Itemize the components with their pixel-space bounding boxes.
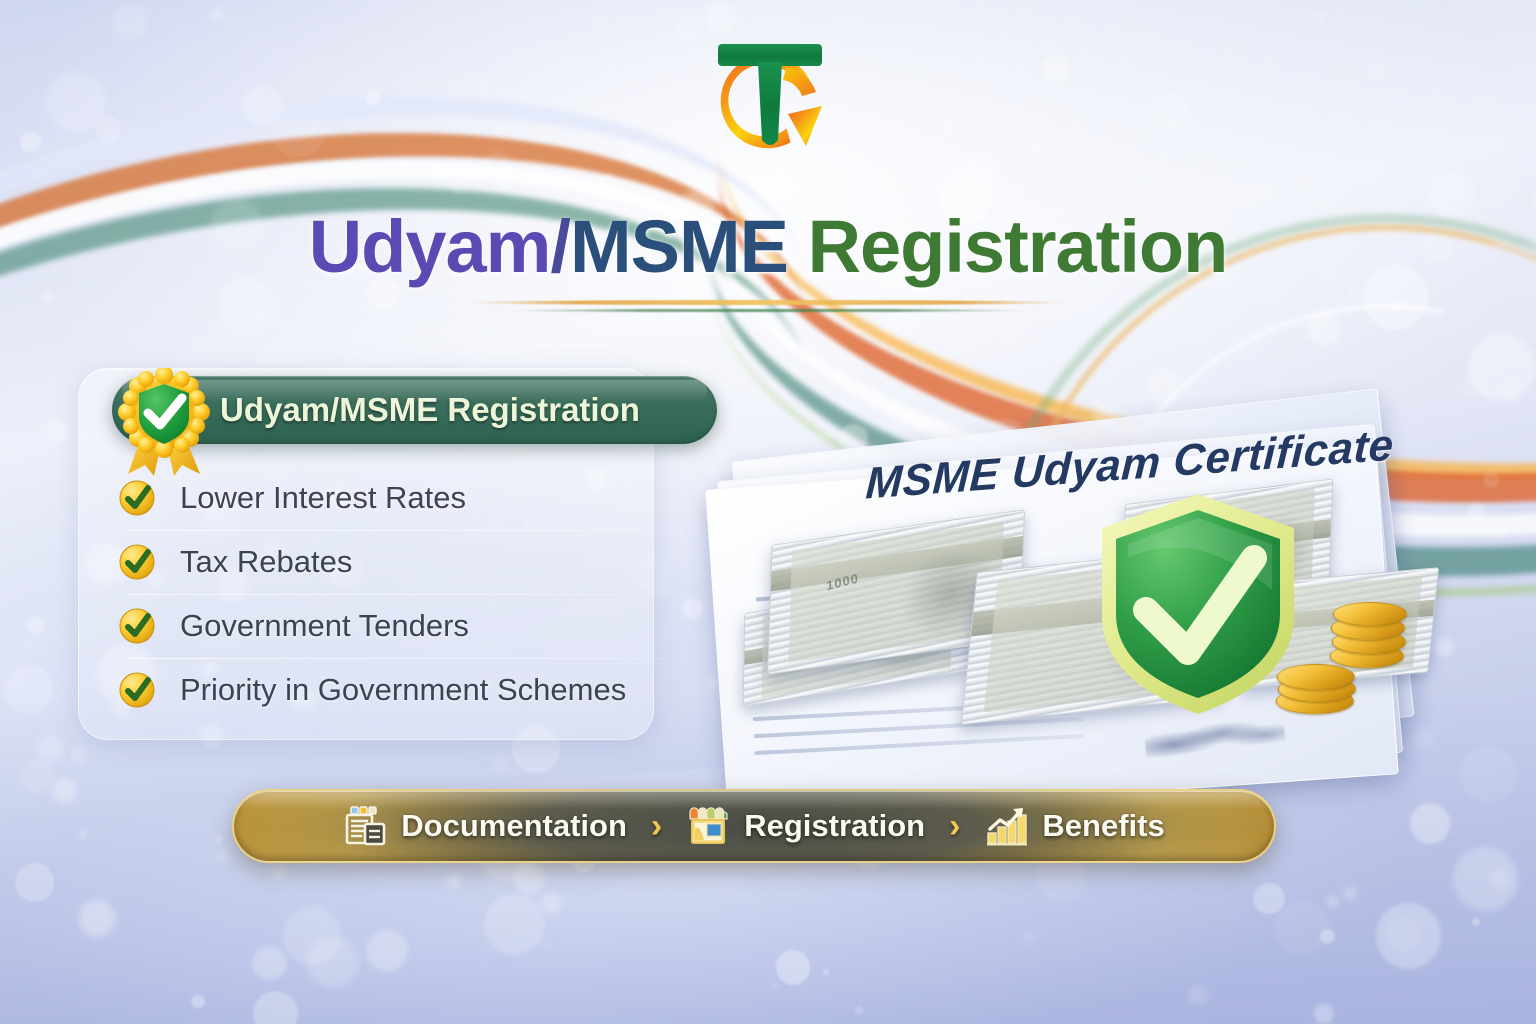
bokeh-circle	[891, 143, 901, 153]
process-separator-1: ›	[651, 809, 662, 843]
bokeh-circle	[491, 754, 509, 772]
bokeh-circle	[70, 745, 88, 763]
process-step-registration[interactable]: Registration	[686, 805, 925, 847]
process-step-benefits[interactable]: Benefits	[984, 805, 1164, 847]
title-divider-gold	[468, 300, 1068, 305]
storefront-icon	[686, 805, 730, 847]
bokeh-circle	[112, 4, 148, 40]
bokeh-circle	[218, 851, 228, 861]
bokeh-circle	[543, 941, 550, 948]
bokeh-circle	[20, 132, 40, 152]
bokeh-circle	[79, 830, 87, 838]
bokeh-circle	[1042, 54, 1071, 83]
bokeh-circle	[52, 778, 77, 803]
bokeh-circle	[1275, 901, 1329, 955]
bokeh-circle	[191, 995, 205, 1009]
page-title-part-udyam: Udyam	[309, 205, 551, 288]
gold-circle-check-icon	[118, 543, 156, 581]
title-divider	[0, 300, 1536, 318]
green-shield-check-icon	[1088, 488, 1308, 720]
gold-rosette-shield-check-icon	[112, 368, 216, 480]
bokeh-circle	[37, 735, 63, 761]
bokeh-circle	[484, 894, 545, 955]
bokeh-circle	[252, 946, 286, 980]
list-item-label: Lower Interest Rates	[180, 480, 466, 516]
list-item[interactable]: Lower Interest Rates	[118, 466, 718, 530]
gold-circle-check-icon	[118, 607, 156, 645]
process-step-documentation[interactable]: Documentation	[343, 805, 627, 847]
bokeh-circle	[1315, 12, 1324, 21]
bokeh-circle	[27, 617, 44, 634]
bokeh-circle	[541, 893, 562, 914]
page-title: Udyam/MSME Registration	[0, 204, 1536, 289]
bokeh-circle	[366, 91, 380, 105]
list-item-label: Government Tenders	[180, 608, 469, 644]
page-title-part-msme: MSME	[570, 205, 788, 288]
process-step-label: Documentation	[401, 808, 627, 844]
bokeh-circle	[1253, 883, 1284, 914]
documents-icon	[343, 805, 387, 847]
bar-chart-growth-icon	[984, 805, 1028, 847]
title-divider-green	[508, 309, 1028, 312]
certificate-illustration: MSME Udyam Certificate 1000 1000	[690, 400, 1470, 820]
bokeh-circle	[593, 175, 620, 202]
bokeh-circle	[1462, 64, 1472, 74]
process-steps-bar: Documentation › Registration ›	[232, 789, 1276, 863]
list-item[interactable]: Government Tenders	[118, 594, 718, 658]
bokeh-circle	[485, 150, 509, 174]
bokeh-circle	[823, 969, 829, 975]
list-item[interactable]: Tax Rebates	[118, 530, 718, 594]
bokeh-circle	[1295, 121, 1301, 127]
gold-circle-check-icon	[118, 671, 156, 709]
bokeh-circle	[1453, 847, 1518, 912]
list-item-label: Tax Rebates	[180, 544, 352, 580]
bokeh-circle	[776, 950, 811, 985]
bokeh-circle	[95, 116, 121, 142]
bokeh-circle	[1023, 932, 1035, 944]
certificate-signature	[1144, 715, 1286, 758]
bokeh-circle	[943, 125, 953, 135]
bokeh-circle	[1344, 887, 1356, 899]
process-step-label: Registration	[744, 808, 925, 844]
process-step-label: Benefits	[1042, 808, 1164, 844]
bokeh-circle	[283, 906, 342, 965]
list-item[interactable]: Priority in Government Schemes	[118, 658, 718, 722]
page-title-wrapper: Udyam/MSME Registration	[0, 204, 1536, 289]
bokeh-circle	[855, 1006, 863, 1014]
process-separator-2: ›	[949, 809, 960, 843]
page-title-part-registration: Registration	[808, 205, 1228, 288]
benefits-list: Lower Interest Rates Tax Rebates Governm…	[118, 466, 718, 722]
page-title-slash: /	[550, 205, 570, 288]
bokeh-circle	[447, 874, 460, 887]
bokeh-circle	[1483, 472, 1498, 487]
bokeh-circle	[1147, 368, 1181, 402]
udyam-t-circular-arrow-logo	[690, 22, 850, 172]
brand-logo	[690, 22, 850, 172]
bokeh-circle	[211, 8, 223, 20]
list-item-label: Priority in Government Schemes	[180, 672, 626, 708]
bokeh-circle	[1386, 917, 1421, 952]
bokeh-circle	[477, 84, 487, 94]
bokeh-circle	[21, 637, 37, 653]
bokeh-circle	[79, 900, 116, 937]
bokeh-circle	[628, 147, 643, 162]
bokeh-circle	[1314, 1004, 1334, 1024]
bokeh-circle	[271, 864, 287, 880]
gold-circle-check-icon	[118, 479, 156, 517]
